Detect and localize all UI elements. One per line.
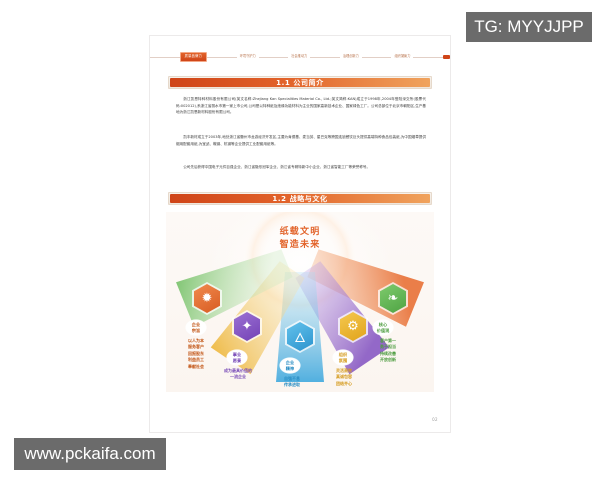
section-header-label: 1.1 公司简介 — [170, 78, 430, 87]
chapter-nav-strip: 质量品牌力 环境守护力 社会推动力 治理创新力 组织凝聚力 — [150, 50, 450, 64]
nav-divider-line — [150, 57, 180, 58]
nav-item-governance[interactable]: 治理创新力 — [340, 55, 362, 58]
website-watermark-badge: www.pckaifa.com — [14, 438, 166, 470]
section-header-company-profile: 1.1 公司简介 — [168, 76, 432, 89]
culture-fan-diagram: 纸载文明 智造未来 — [166, 212, 434, 392]
nav-divider-line — [362, 57, 392, 58]
pill-line-2: 愿景 — [233, 358, 241, 363]
section-header-strategy-culture: 1.2 战略与文化 — [168, 192, 432, 205]
pill-line-2: 宗旨 — [192, 328, 200, 333]
nav-divider-line — [259, 57, 289, 58]
petal-caption-values: 客户第一 勇于担当 持续改善 开放创新 — [364, 338, 412, 364]
petal-caption-atmosphere: 灵活高效 真诚包容 团结齐心 — [321, 368, 367, 387]
pill-line-2: 价值观 — [377, 328, 390, 333]
telegram-watermark-badge: TG: MYYJJPP — [466, 12, 592, 42]
nav-item-society[interactable]: 社会推动力 — [288, 55, 310, 58]
paragraph-kaifeng-subsidiary: 凯丰新材成立于2003年,地处浙江省衢州市龙游经济开发区,主要为肯德基、麦当劳、… — [176, 134, 426, 147]
petal-caption-purpose: 以人为本 服务客户 回报股东 利益员工 奉献社会 — [174, 338, 218, 370]
petal-title-spirit: 企业 精神 — [280, 358, 300, 373]
petal-caption-spirit: 自强不息 传承进取 — [270, 376, 314, 389]
petal-title-purpose: 企业 宗旨 — [186, 320, 206, 335]
nav-divider-line — [413, 57, 443, 58]
nav-item-environment[interactable]: 环境守护力 — [237, 55, 259, 58]
page-number: 02 — [432, 417, 438, 422]
nav-divider-line — [310, 57, 340, 58]
nav-item-active[interactable]: 质量品牌力 — [180, 52, 207, 61]
section-header-label: 1.2 战略与文化 — [170, 194, 430, 203]
pill-line-2: 精神 — [286, 366, 294, 371]
petal-caption-vision: 成为最具价值的 一流企业 — [215, 368, 261, 381]
petal-title-atmosphere: 组织 氛围 — [333, 350, 353, 365]
nav-divider-line — [207, 57, 237, 58]
nav-item-organization[interactable]: 组织凝聚力 — [391, 55, 413, 58]
petal-title-values: 核心 价值观 — [373, 320, 393, 335]
nav-end-marker — [443, 55, 450, 59]
petal-title-vision: 事业 愿景 — [227, 350, 247, 365]
paragraph-honors: 公司先后获得中国电子元件百强企业、浙江省隐形冠军企业、浙江省专精特新中小企业、浙… — [176, 164, 426, 171]
pill-line-2: 氛围 — [339, 358, 347, 363]
paragraph-company-overview: 浙江凯恩特种材料股份有限公司(英文名称:Zhejiang Kan Special… — [176, 96, 426, 116]
document-page: 质量品牌力 环境守护力 社会推动力 治理创新力 组织凝聚力 1.1 公司简介 浙… — [150, 36, 450, 432]
